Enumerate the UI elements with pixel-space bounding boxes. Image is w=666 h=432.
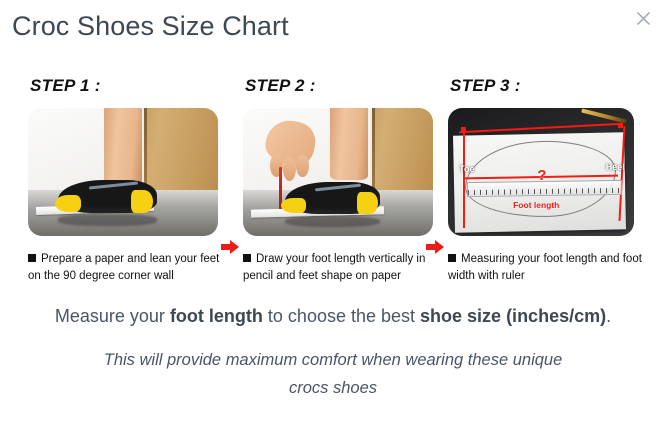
bullet-square-icon [243,254,251,262]
footer-bold-shoe-size: shoe size (inches/cm) [420,306,606,326]
floor-reflection [285,216,380,228]
step-column-3: STEP 3 : Toe Heel ? Foot length [448,76,640,236]
step-1-photo [28,108,218,236]
step-column-1: STEP 1 : [28,76,224,236]
footer-text-2: to choose the best [263,306,420,326]
bullet-square-icon [28,254,36,262]
red-corner-marker-right [618,123,623,128]
page-title: Croc Shoes Size Chart [12,11,289,42]
step-3-caption-text: Measuring your foot length and foot widt… [448,253,642,282]
step-3-caption: Measuring your foot length and foot widt… [448,251,648,285]
finger [283,157,296,181]
toe-label: Toe [459,164,474,174]
heel-cap [357,192,378,214]
leg [330,108,368,180]
modal-header: Croc Shoes Size Chart [0,0,666,58]
footer-bold-foot-length: foot length [170,306,263,326]
close-button[interactable] [630,5,656,31]
floor-reflection [58,214,157,226]
step-column-2: STEP 2 : [243,76,439,236]
footer-text-1: Measure your [55,306,170,326]
footer-text-3: . [606,306,611,326]
heel-label: Heel [606,162,625,172]
question-label: ? [537,167,546,184]
step-2-photo [243,108,433,236]
foot-length-label: Foot length [513,200,559,210]
step-1-label: STEP 1 : [30,76,224,96]
close-icon [636,11,651,26]
leg [104,108,142,185]
step-1-caption-text: Prepare a paper and lean your feet on th… [28,253,219,282]
step-2-caption-text: Draw your foot length vertically in penc… [243,253,425,282]
step-1-caption: Prepare a paper and lean your feet on th… [28,251,228,285]
step-2-label: STEP 2 : [245,76,439,96]
toe-cap [281,198,306,213]
red-corner-marker-left [461,127,466,132]
step-2-caption: Draw your foot length vertically in penc… [243,251,443,285]
heel-cap [131,190,154,213]
ruler-ticks [468,188,621,195]
step-3-label: STEP 3 : [450,76,640,96]
footer-comfort-note: This will provide maximum comfort when w… [84,346,582,402]
footer-instruction: Measure your foot length to choose the b… [0,306,666,327]
step-3-photo: Toe Heel ? Foot length [448,108,634,236]
bullet-square-icon [448,254,456,262]
toe-cap [55,195,82,212]
